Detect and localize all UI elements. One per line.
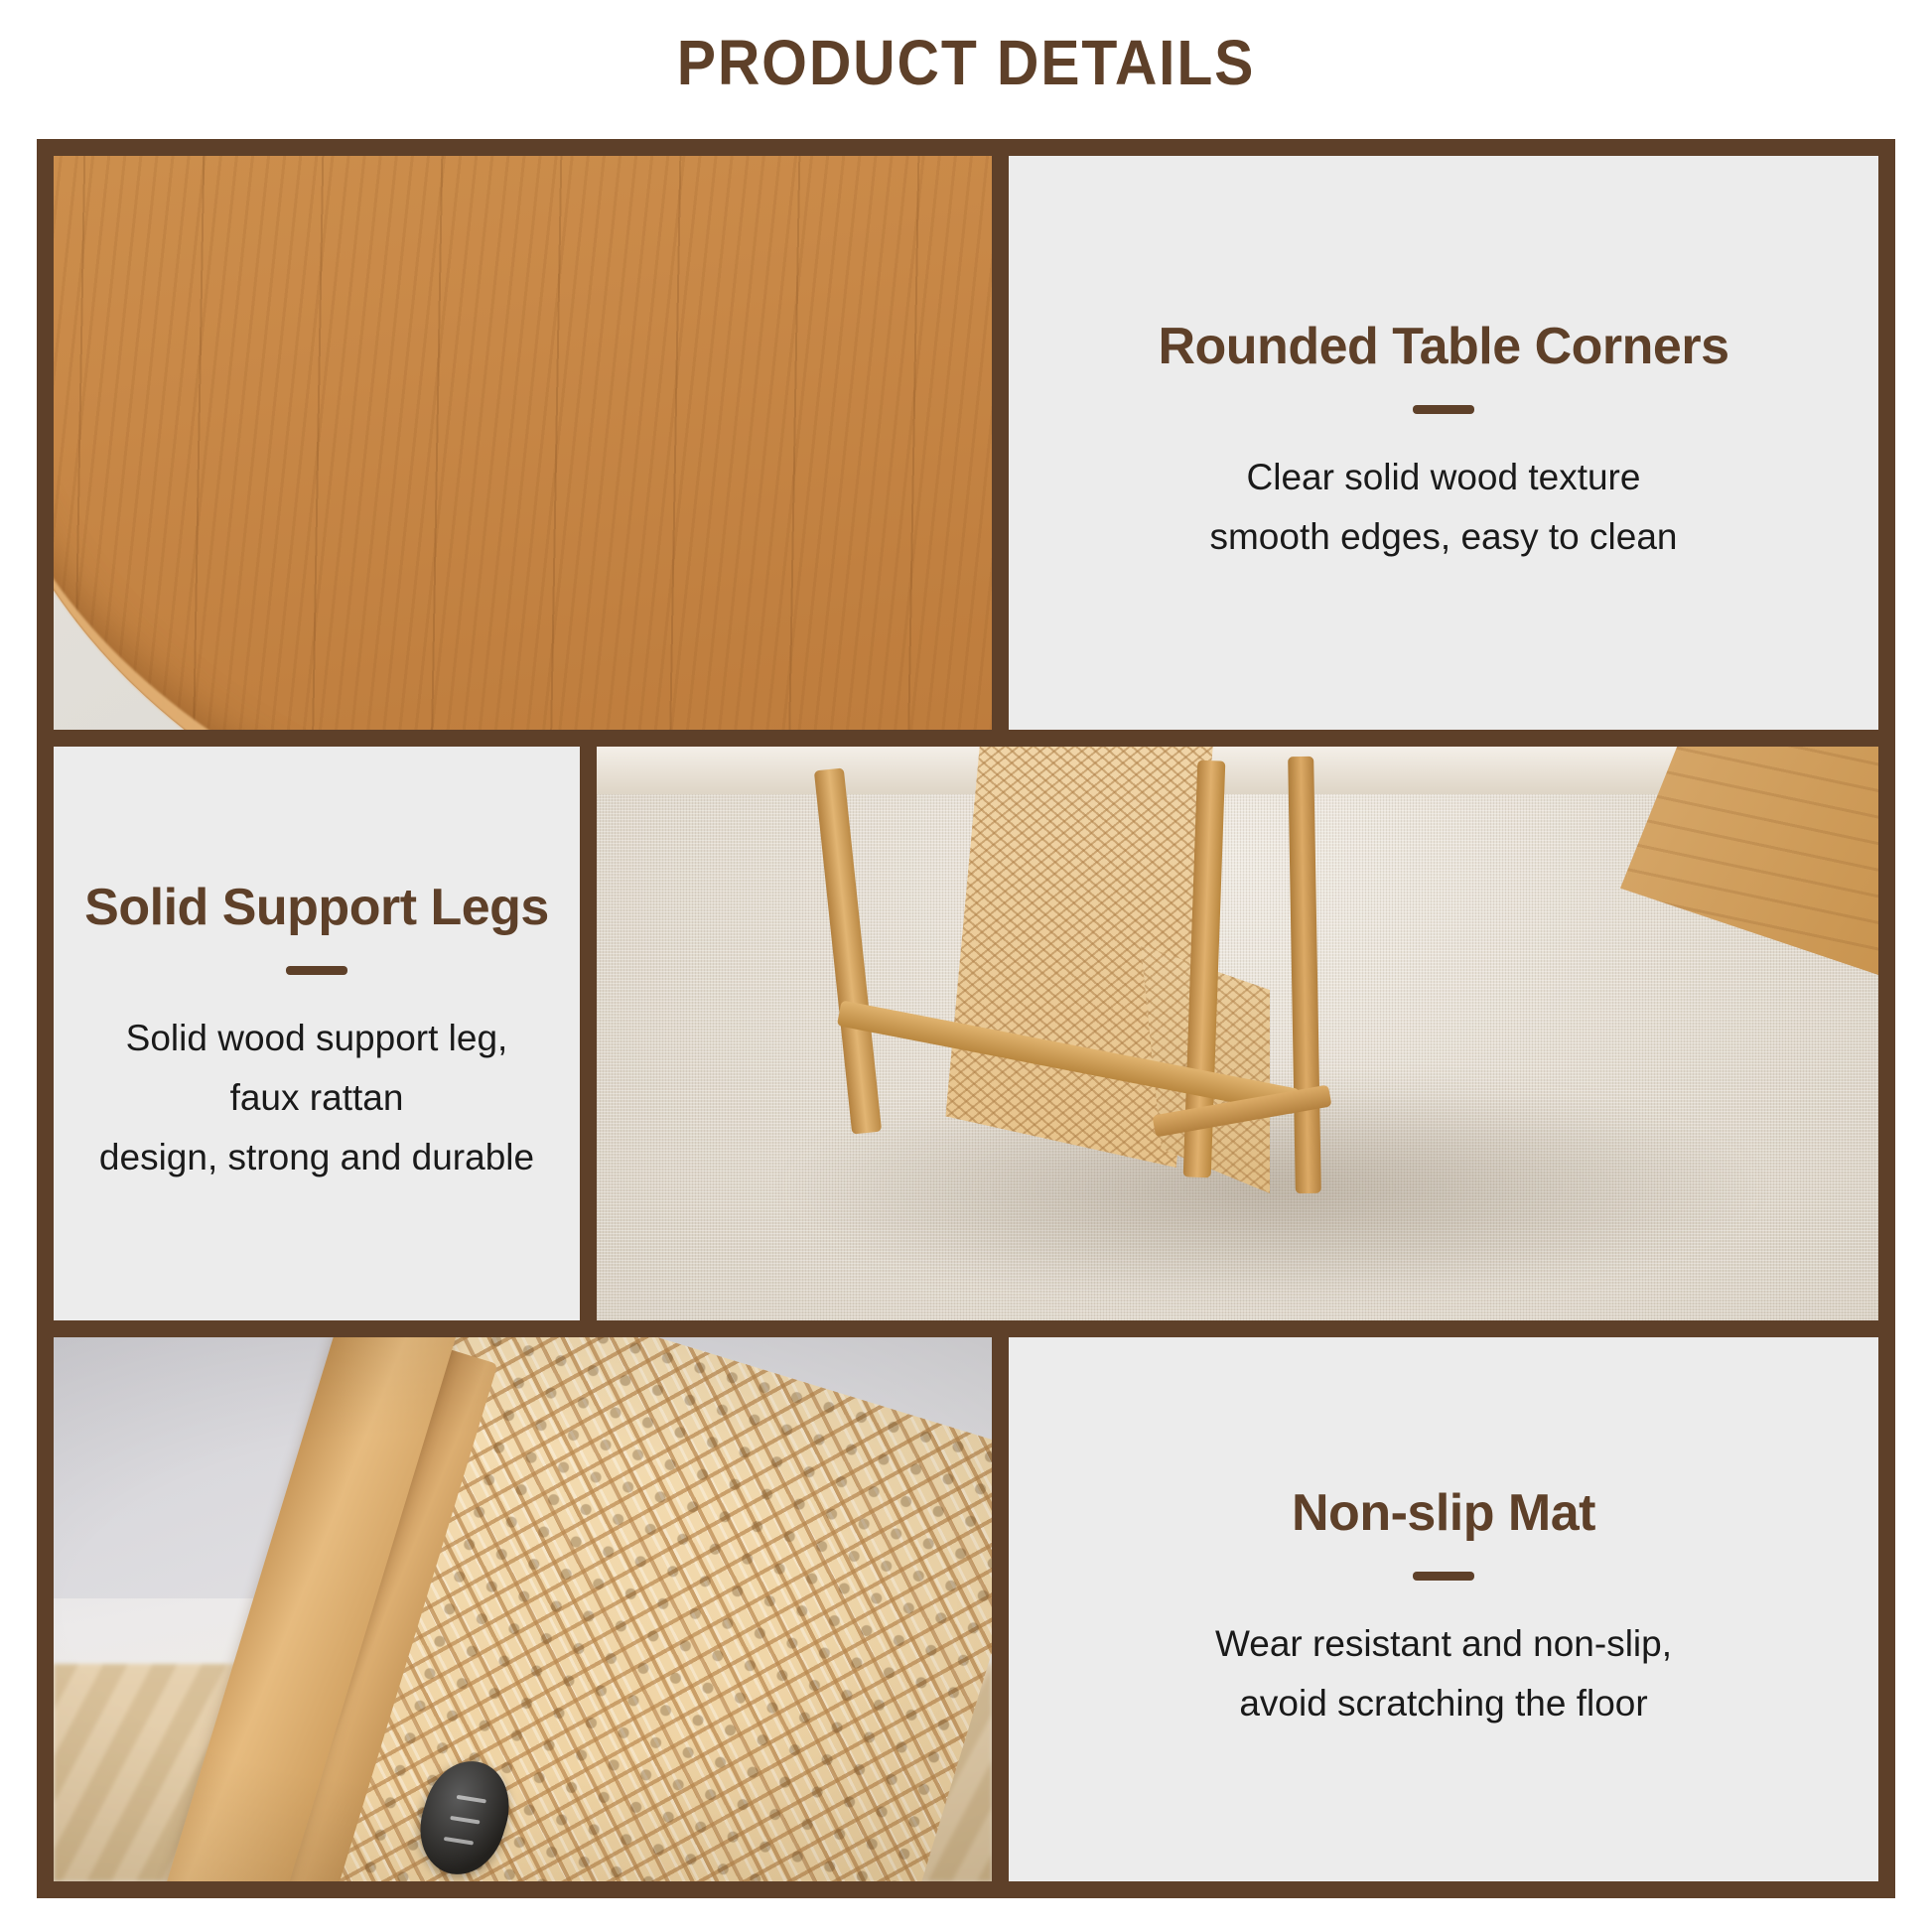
section-text-rounded-table-corners: Rounded Table Corners Clear solid wood t…	[1009, 156, 1878, 730]
details-grid-frame: Rounded Table Corners Clear solid wood t…	[37, 139, 1895, 1898]
callout-arrow-right-icon	[578, 1053, 580, 1149]
section-body: Clear solid wood texture smooth edges, e…	[1209, 448, 1677, 567]
text-panel: Non-slip Mat Wear resistant and non-slip…	[1009, 1337, 1878, 1881]
section-body: Wear resistant and non-slip, avoid scrat…	[1215, 1614, 1672, 1733]
section-text-non-slip-mat: Non-slip Mat Wear resistant and non-slip…	[1009, 1337, 1878, 1881]
callout-arrow-left-icon	[1009, 395, 1011, 490]
photo-support-legs	[597, 747, 1878, 1320]
product-details-infographic: PRODUCT DETAILS Rounded Table Corners Cl…	[0, 0, 1932, 1932]
photo-table-corner	[54, 156, 992, 730]
section-text-solid-support-legs: Solid Support Legs Solid wood support le…	[54, 747, 580, 1320]
table-edge-highlight	[54, 156, 992, 730]
section-divider	[1413, 1572, 1474, 1581]
photo-vignette	[54, 1337, 992, 1881]
callout-arrow-left-icon	[1009, 1635, 1011, 1730]
section-body: Solid wood support leg, faux rattan desi…	[93, 1009, 540, 1187]
text-panel: Solid Support Legs Solid wood support le…	[54, 747, 580, 1320]
section-divider	[286, 966, 347, 975]
section-heading: Non-slip Mat	[1292, 1485, 1595, 1542]
section-divider	[1413, 405, 1474, 414]
page-title: PRODUCT DETAILS	[77, 26, 1855, 99]
section-heading: Rounded Table Corners	[1158, 319, 1728, 375]
photo-non-slip-foot	[54, 1337, 992, 1881]
section-heading: Solid Support Legs	[84, 880, 549, 936]
section-image-rounded-table-corners	[54, 156, 992, 730]
section-image-non-slip-mat	[54, 1337, 992, 1881]
section-image-solid-support-legs	[597, 747, 1878, 1320]
text-panel: Rounded Table Corners Clear solid wood t…	[1009, 156, 1878, 730]
